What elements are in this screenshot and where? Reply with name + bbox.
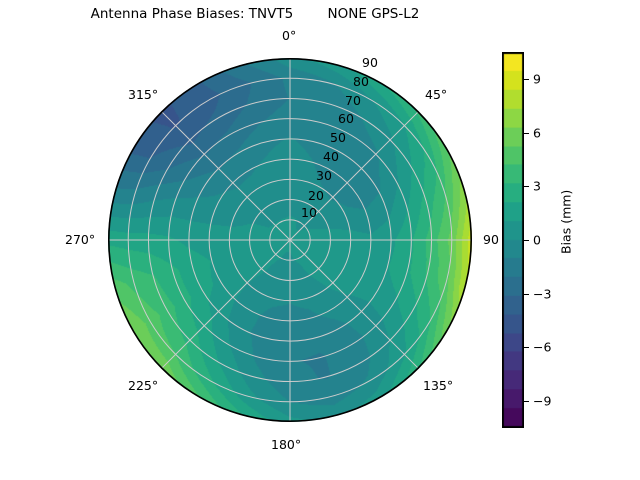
polar-grid	[108, 58, 472, 422]
colorbar-tick-label: −3	[533, 286, 551, 301]
colorbar-tick	[524, 79, 529, 80]
angular-tick-180: 180°	[271, 437, 301, 452]
colorbar-tick-label: −9	[533, 394, 551, 409]
page-title: Antenna Phase Biases: TNVT5 NONE GPS-L2	[0, 6, 510, 22]
angular-tick-270: 270°	[65, 232, 95, 247]
colorbar-tick-label: 0	[533, 233, 541, 248]
polar-grid-spoke	[290, 111, 419, 240]
angular-tick-0: 0°	[282, 28, 296, 43]
polar-grid-spoke	[161, 240, 290, 369]
figure-canvas: Antenna Phase Biases: TNVT5 NONE GPS-L2 …	[0, 0, 640, 480]
colorbar-tick-label: 3	[533, 179, 541, 194]
polar-grid-spoke	[161, 111, 290, 240]
radial-tick-30: 30	[316, 168, 332, 183]
colorbar-tick-label: 9	[533, 71, 541, 86]
angular-tick-135: 135°	[423, 378, 453, 393]
colorbar-tick	[524, 294, 529, 295]
radial-tick-40: 40	[323, 149, 339, 164]
angular-tick-225: 225°	[128, 378, 158, 393]
angular-tick-90: 90	[483, 232, 499, 247]
colorbar[interactable]: 9630−3−6−9	[502, 52, 524, 428]
radial-tick-20: 20	[308, 188, 324, 203]
colorbar-tick	[524, 347, 529, 348]
radial-tick-80: 80	[353, 74, 369, 89]
colorbar-tick-label: −6	[533, 340, 551, 355]
polar-grid-spoke	[290, 240, 419, 369]
colorbar-tick	[524, 240, 529, 241]
colorbar-tick	[524, 186, 529, 187]
radial-tick-70: 70	[345, 93, 361, 108]
colorbar-tick-label: 6	[533, 125, 541, 140]
polar-plot	[108, 58, 472, 422]
radial-tick-60: 60	[338, 111, 354, 126]
angular-tick-315: 315°	[128, 87, 158, 102]
angular-tick-45: 45°	[425, 87, 447, 102]
colorbar-tick	[524, 401, 529, 402]
radial-tick-50: 50	[330, 130, 346, 145]
radial-tick-90: 90	[362, 55, 378, 70]
radial-tick-10: 10	[301, 205, 317, 220]
colorbar-gradient	[502, 52, 524, 428]
colorbar-axis-label: Bias (mm)	[559, 190, 574, 254]
colorbar-tick	[524, 133, 529, 134]
